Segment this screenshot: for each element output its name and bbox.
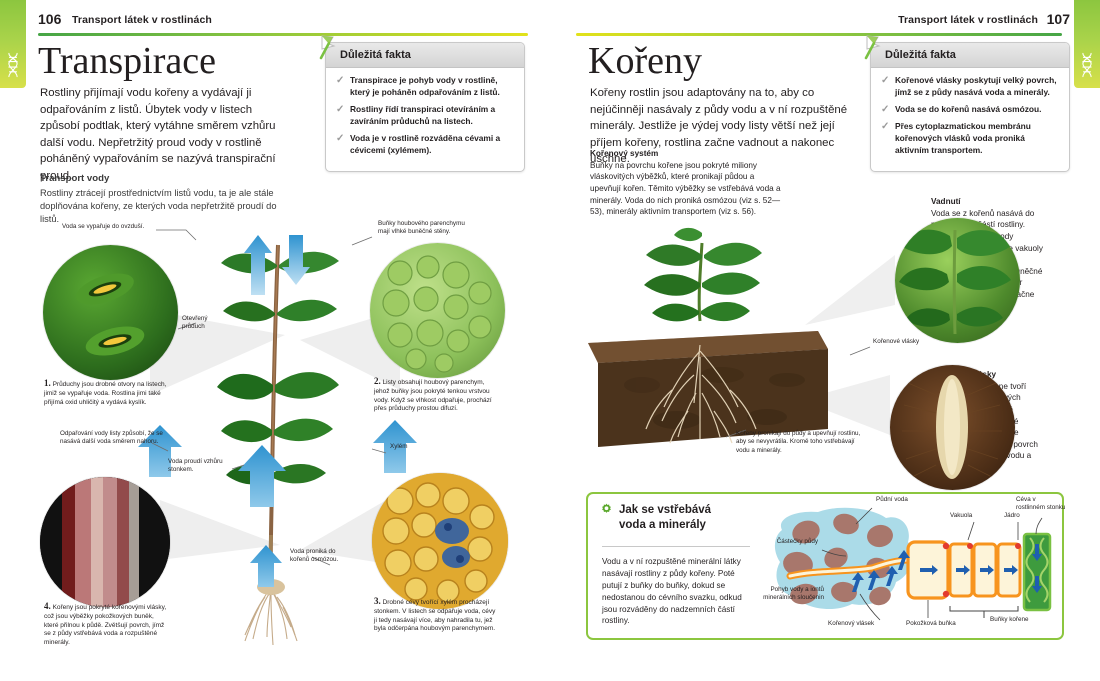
book-spread: 106 Transport látek v rostlinách Transpi…	[0, 0, 1100, 681]
label-soil-particles: Částečky půdy	[762, 538, 818, 546]
page-title-left: Transpirace	[38, 42, 216, 80]
label-open-stoma: Otevřený průduch	[182, 315, 228, 332]
key-fact-text: Kořenové vlásky poskytují velký povrch, …	[895, 75, 1059, 99]
key-facts-box-right: Důležitá fakta ✓ Kořenové vlásky poskytu…	[870, 42, 1070, 172]
step-number: 3.	[374, 596, 381, 606]
label-root-cells: Buňky kořene	[990, 616, 1042, 624]
root-system-text: Buňky na povrchu kořene jsou pokryté mil…	[590, 161, 781, 217]
step-text: Drobné cévy tvořící xylém procházejí sto…	[374, 599, 495, 632]
key-fact-item: ✓ Voda se do kořenů nasává osmózou.	[881, 104, 1059, 116]
label-evaporation: Voda se vypařuje do ovzduší.	[62, 223, 172, 231]
intro-paragraph-left: Rostliny přijímají vodu kořeny a vydávaj…	[40, 85, 290, 184]
label-vessel-in-stem: Céva v rostlinném stonku	[1016, 496, 1066, 513]
label-soil-penetration: Kořeny pronikají do půdy a upevňují rost…	[736, 430, 870, 455]
running-head-left: Transport látek v rostlinách	[72, 14, 212, 26]
activity-divider	[602, 546, 750, 547]
step-caption-3: 3. Drobné cévy tvořící xylém procházejí …	[374, 595, 499, 634]
root-system-heading: Kořenový systém	[590, 148, 786, 160]
label-stem-flow: Voda proudí vzhůru stonkem.	[168, 458, 228, 475]
root-system-diagram: Kořenové vlásky Kořeny pronikají do půdy…	[550, 225, 1100, 475]
label-vacuole: Vakuola	[950, 512, 992, 520]
label-soil-water: Půdní voda	[876, 496, 934, 504]
check-icon: ✓	[336, 133, 345, 157]
key-fact-item: ✓ Voda je v rostlině rozváděna cévami a …	[336, 133, 514, 157]
step-caption-1: 1. Průduchy jsou drobné otvory na listec…	[44, 377, 169, 407]
label-epidermis-cell: Pokožková buňka	[906, 620, 966, 628]
label-water-ion-movement: Pohyb vody a iontů minerálních sloučenin	[762, 586, 824, 603]
header-rule-left	[38, 33, 528, 36]
key-fact-item: ✓ Kořenové vlásky poskytují velký povrch…	[881, 75, 1059, 99]
key-fact-text: Přes cytoplazmatickou membránu kořenovýc…	[895, 121, 1059, 157]
key-fact-item: ✓ Transpirace je pohyb vody v rostlině, …	[336, 75, 514, 99]
dna-icon	[1080, 52, 1094, 78]
key-fact-item: ✓ Přes cytoplazmatickou membránu kořenov…	[881, 121, 1059, 157]
step-number: 4.	[44, 601, 51, 611]
step-caption-4: 4. Kořeny jsou pokryté kořenovými vlásky…	[44, 600, 169, 648]
absorption-diagram: Půdní voda Částečky půdy Pohyb vody a io…	[760, 498, 1060, 638]
step-caption-2: 2. Listy obsahují houbový parenchym, jeh…	[374, 375, 499, 414]
transpiration-diagram: Voda se vypařuje do ovzduší. Buňky houbo…	[0, 215, 550, 681]
running-head-right: Transport látek v rostlinách	[898, 14, 1038, 26]
check-icon: ✓	[881, 121, 890, 157]
check-icon: ✓	[881, 75, 890, 99]
label-root-hairs-callout: Kořenové vlásky	[873, 338, 921, 346]
activity-title: Jak se vstřebává voda a minerály	[619, 503, 740, 532]
key-facts-heading-left: Důležitá fakta	[326, 43, 524, 68]
label-spongy-parenchyma: Buňky houbového parenchymu mají vlhké bu…	[378, 220, 478, 237]
step-number: 2.	[374, 376, 381, 386]
key-facts-heading-right: Důležitá fakta	[871, 43, 1069, 68]
key-facts-list-right: ✓ Kořenové vlásky poskytují velký povrch…	[871, 68, 1069, 171]
key-fact-text: Transpirace je pohyb vody v rostlině, kt…	[350, 75, 514, 99]
step-text: Kořeny jsou pokryté kořenovými vlásky, c…	[44, 604, 166, 646]
header-rule-right	[576, 33, 1062, 36]
page-title-right: Kořeny	[588, 42, 702, 80]
right-page: Transport látek v rostlinách 107 Kořeny …	[550, 0, 1100, 681]
key-facts-box-left: Důležitá fakta ✓ Transpirace je pohyb vo…	[325, 42, 525, 172]
check-icon: ✓	[881, 104, 890, 116]
key-fact-text: Voda se do kořenů nasává osmózou.	[895, 104, 1041, 116]
check-icon: ✓	[336, 104, 345, 128]
label-xylem: Xylém	[390, 443, 430, 451]
step-text: Listy obsahují houbový parenchym, jehož …	[374, 379, 492, 412]
label-root-hair: Kořenový vlásek	[828, 620, 884, 628]
label-osmosis: Voda proniká do kořenů osmózou.	[290, 548, 342, 565]
page-thumb-tab-left	[0, 0, 26, 88]
key-fact-item: ✓ Rostliny řídí transpiraci otevíráním a…	[336, 104, 514, 128]
check-icon: ✓	[336, 75, 345, 99]
label-evaporation-pull: Odpařování vody listy způsobí, že se nas…	[60, 430, 176, 447]
key-fact-text: Voda je v rostlině rozváděna cévami a cé…	[350, 133, 514, 157]
pin-icon	[863, 34, 885, 60]
folio-left: 106	[38, 11, 61, 27]
key-facts-list-left: ✓ Transpirace je pohyb vody v rostlině, …	[326, 68, 524, 171]
gear-icon	[600, 503, 613, 516]
activity-title-row: Jak se vstřebává voda a minerály	[600, 503, 740, 532]
label-nucleus: Jádro	[1004, 512, 1036, 520]
pin-icon	[318, 34, 340, 60]
root-system-note: Kořenový systém Buňky na povrchu kořene …	[590, 148, 786, 218]
page-thumb-tab-right	[1074, 0, 1100, 88]
step-text: Průduchy jsou drobné otvory na listech, …	[44, 381, 166, 406]
left-page: 106 Transport látek v rostlinách Transpi…	[0, 0, 550, 681]
activity-box: Jak se vstřebává voda a minerály Vodu a …	[586, 492, 1064, 640]
step-number: 1.	[44, 378, 51, 388]
folio-right: 107	[1047, 11, 1070, 27]
activity-text: Vodu a v ní rozpuštěné minerální látky n…	[602, 556, 754, 627]
dna-icon	[6, 52, 20, 78]
wilting-heading: Vadnutí	[931, 196, 1043, 208]
key-fact-text: Rostliny řídí transpiraci otevíráním a z…	[350, 104, 514, 128]
subsection-heading-left: Transport vody	[40, 172, 298, 186]
